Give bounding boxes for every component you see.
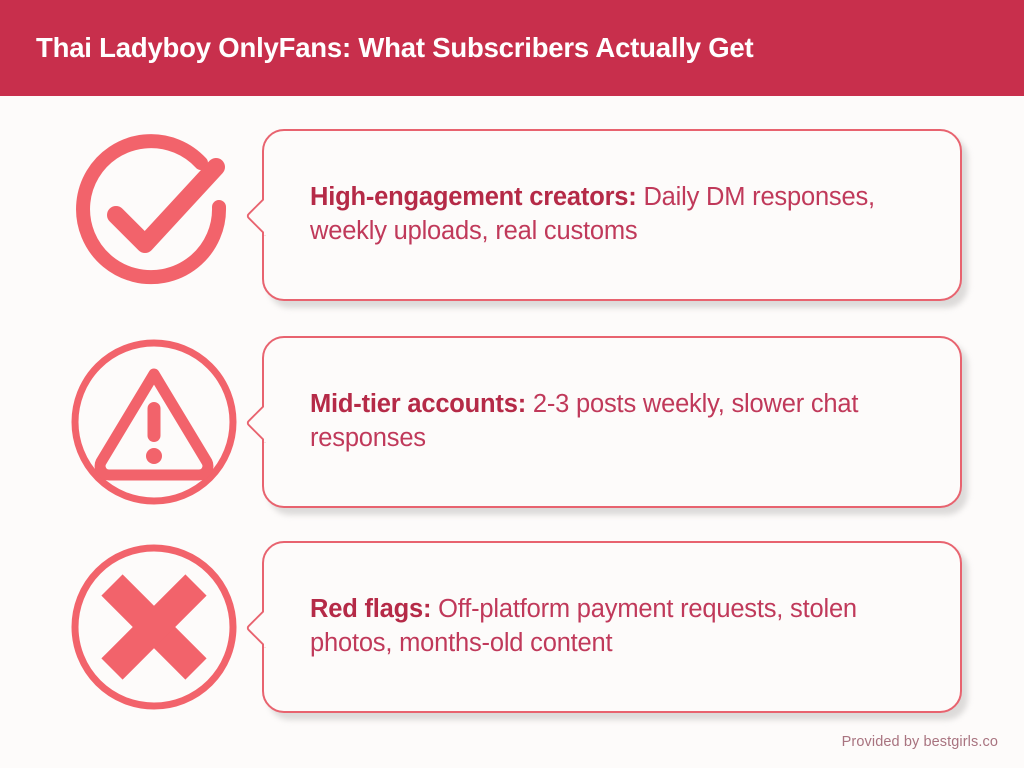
- card-2: Mid-tier accounts: 2-3 posts weekly, slo…: [262, 336, 962, 508]
- footer-attribution: Provided by bestgirls.co: [842, 734, 998, 750]
- warning-triangle-circle-icon: [64, 332, 244, 512]
- list-item: Red flags: Off-platform payment requests…: [0, 537, 1024, 717]
- x-circle-icon: [64, 537, 244, 717]
- card-body: High-engagement creators: Daily DM respo…: [262, 129, 962, 301]
- card-body: Red flags: Off-platform payment requests…: [262, 541, 962, 713]
- card-lead: High-engagement creators:: [310, 183, 637, 211]
- card-pointer-mask: [264, 607, 270, 647]
- card-lead: Red flags:: [310, 595, 431, 623]
- card-text: Red flags: Off-platform payment requests…: [310, 593, 926, 661]
- list-item: Mid-tier accounts: 2-3 posts weekly, slo…: [0, 332, 1024, 512]
- card-text: Mid-tier accounts: 2-3 posts weekly, slo…: [310, 388, 926, 456]
- check-circle-icon: [64, 125, 244, 305]
- card-1: High-engagement creators: Daily DM respo…: [262, 129, 962, 301]
- header-bar: Thai Ladyboy OnlyFans: What Subscribers …: [0, 0, 1024, 96]
- card-3: Red flags: Off-platform payment requests…: [262, 541, 962, 713]
- card-pointer-mask: [264, 195, 270, 235]
- page-title: Thai Ladyboy OnlyFans: What Subscribers …: [36, 32, 753, 64]
- list-item: High-engagement creators: Daily DM respo…: [0, 125, 1024, 305]
- card-text: High-engagement creators: Daily DM respo…: [310, 181, 926, 249]
- card-body: Mid-tier accounts: 2-3 posts weekly, slo…: [262, 336, 962, 508]
- card-pointer-mask: [264, 402, 270, 442]
- card-lead: Mid-tier accounts:: [310, 390, 526, 418]
